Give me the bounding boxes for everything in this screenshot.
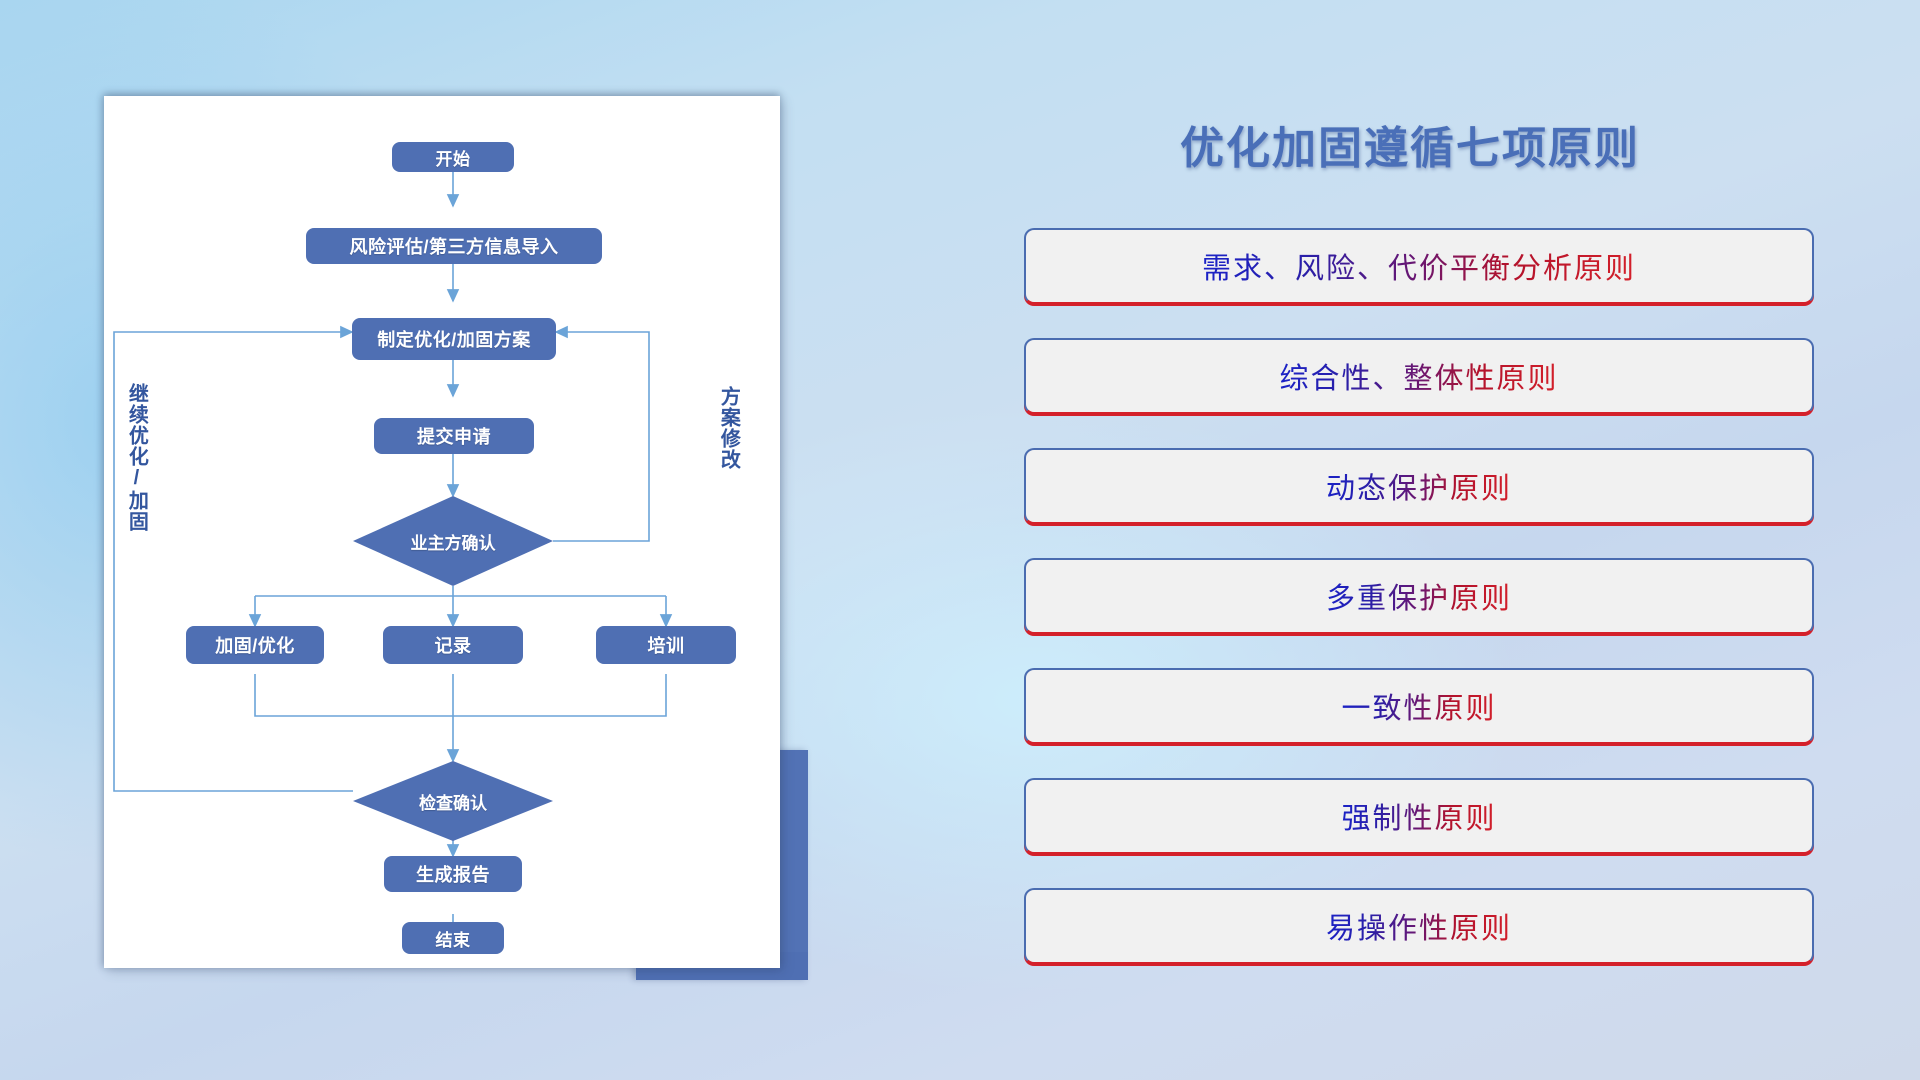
flow-node-submit-label: 提交申请 (417, 423, 491, 449)
flow-node-end[interactable]: 结束 (402, 922, 504, 954)
flow-node-risk-assessment[interactable]: 风险评估/第三方信息导入 (306, 228, 602, 264)
principle-item-3-label: 动态保护原则 (1326, 465, 1512, 507)
flow-node-training[interactable]: 培训 (596, 626, 736, 664)
flowchart-panel: 开始 风险评估/第三方信息导入 制定优化/加固方案 提交申请 业主方确认 加固/… (0, 0, 830, 1080)
principle-item-6-label: 强制性原则 (1341, 795, 1496, 837)
flow-node-start[interactable]: 开始 (392, 142, 514, 172)
principle-item-4[interactable]: 多重保护原则 (1024, 558, 1814, 634)
flow-edge-label-plan-revision: 方案修改 (718, 386, 738, 470)
flow-node-risk-assessment-label: 风险评估/第三方信息导入 (350, 233, 559, 259)
principle-item-7-label: 易操作性原则 (1326, 905, 1512, 947)
principle-item-3[interactable]: 动态保护原则 (1024, 448, 1814, 524)
flow-edge-label-continue-optimize: 继续优化/加固 (126, 383, 146, 532)
principles-list: 需求、风险、代价平衡分析原则 综合性、整体性原则 动态保护原则 多重保护原则 一… (1024, 228, 1814, 998)
principle-item-6[interactable]: 强制性原则 (1024, 778, 1814, 854)
principle-item-4-label: 多重保护原则 (1326, 575, 1512, 617)
principle-item-1[interactable]: 需求、风险、代价平衡分析原则 (1024, 228, 1814, 304)
flow-node-plan[interactable]: 制定优化/加固方案 (352, 318, 556, 360)
principle-item-2[interactable]: 综合性、整体性原则 (1024, 338, 1814, 414)
flow-node-owner-confirm-label: 业主方确认 (411, 529, 496, 554)
flow-node-end-label: 结束 (436, 926, 471, 951)
principle-item-5-label: 一致性原则 (1341, 685, 1496, 727)
flowchart-card: 开始 风险评估/第三方信息导入 制定优化/加固方案 提交申请 业主方确认 加固/… (104, 96, 780, 968)
flow-node-training-label: 培训 (648, 632, 685, 658)
flow-node-record-label: 记录 (435, 632, 472, 658)
flow-node-record[interactable]: 记录 (383, 626, 523, 664)
flow-node-start-label: 开始 (436, 145, 471, 170)
flow-node-reinforce-label: 加固/优化 (215, 632, 295, 658)
principle-item-5[interactable]: 一致性原则 (1024, 668, 1814, 744)
principle-item-1-label: 需求、风险、代价平衡分析原则 (1202, 245, 1636, 287)
flow-node-reinforce[interactable]: 加固/优化 (186, 626, 324, 664)
flow-node-check-confirm-label: 检查确认 (419, 789, 487, 814)
flow-node-plan-label: 制定优化/加固方案 (377, 326, 531, 352)
flow-node-report[interactable]: 生成报告 (384, 856, 522, 892)
principle-item-2-label: 综合性、整体性原则 (1279, 355, 1558, 397)
principle-item-7[interactable]: 易操作性原则 (1024, 888, 1814, 964)
flow-node-submit[interactable]: 提交申请 (374, 418, 534, 454)
principles-panel: 优化加固遵循七项原则 需求、风险、代价平衡分析原则 综合性、整体性原则 动态保护… (1010, 0, 1920, 1080)
flow-node-report-label: 生成报告 (416, 861, 490, 887)
principles-title: 优化加固遵循七项原则 (1010, 112, 1810, 176)
